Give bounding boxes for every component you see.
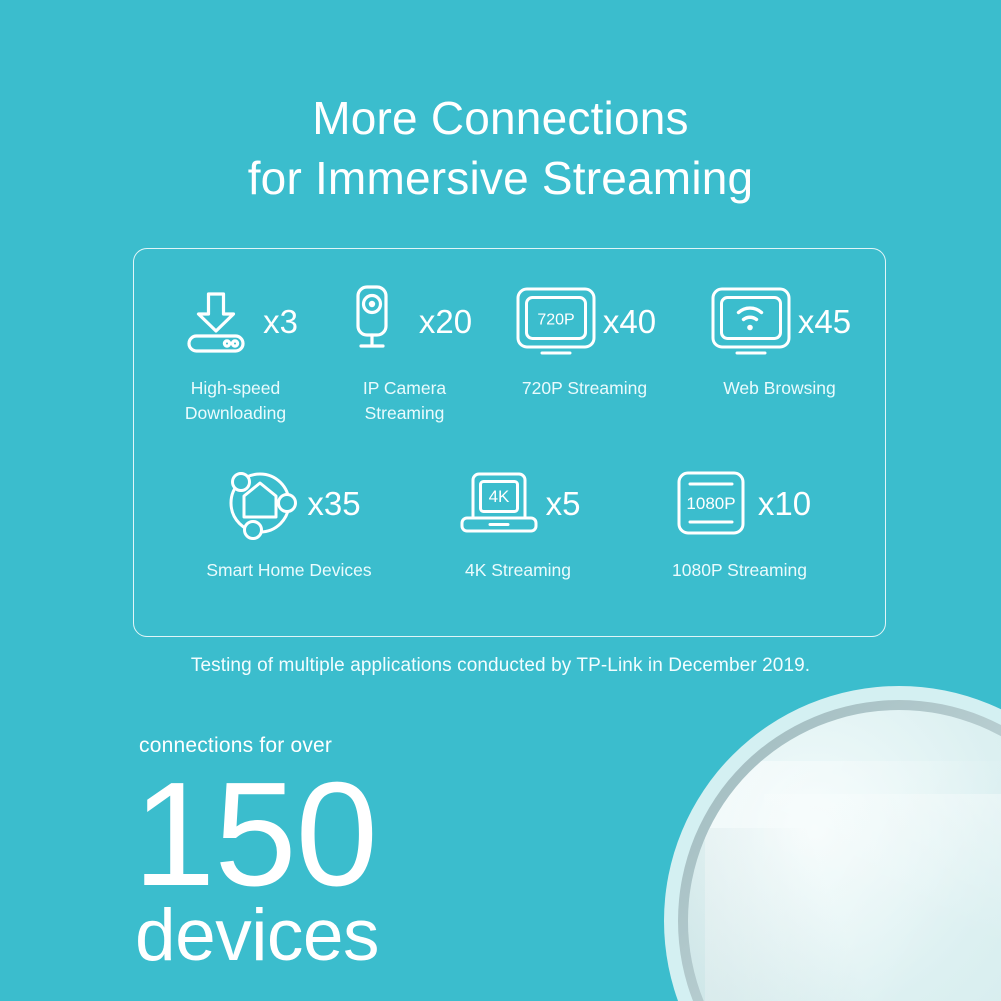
poster-canvas: More Connections for Immersive Streaming — [0, 0, 1001, 1001]
stat-block: connections for over 150 devices — [139, 733, 379, 973]
monitor-720p-icon: 720P — [513, 279, 599, 363]
headline-line-1: More Connections — [0, 88, 1001, 148]
stat-number: 150 — [133, 771, 379, 899]
feature-item-top: 720P x40 — [513, 279, 656, 363]
feature-item-smart-home-devices: x35 Smart Home Devices — [160, 461, 418, 583]
feature-label: Smart Home Devices — [206, 558, 371, 583]
feature-item-top: x20 — [329, 279, 472, 363]
feature-item-top: 1080P x10 — [668, 461, 811, 545]
router-device-image — [664, 686, 1001, 1001]
feature-label: Web Browsing — [723, 376, 836, 401]
download-to-device-icon — [173, 279, 259, 363]
ip-camera-icon — [329, 279, 415, 363]
feature-label: 720P Streaming — [522, 376, 647, 401]
smart-home-network-icon — [217, 461, 303, 545]
router-highlight-c — [764, 794, 1001, 1001]
headline-line-2: for Immersive Streaming — [0, 148, 1001, 208]
feature-label: IP Camera Streaming — [363, 376, 446, 426]
monitor-screen-text: 720P — [537, 312, 574, 329]
feature-row-1: x3 High-speed Downloading — [134, 279, 887, 426]
feature-label: 4K Streaming — [465, 558, 571, 583]
feature-item-4k-streaming: 4K x5 4K Streaming — [418, 461, 618, 583]
page-title: More Connections for Immersive Streaming — [0, 88, 1001, 208]
feature-multiplier: x5 — [546, 487, 581, 520]
feature-label: 1080P Streaming — [672, 558, 807, 583]
feature-item-1080p-streaming: 1080P x10 1080P Streaming — [618, 461, 861, 583]
feature-multiplier: x35 — [307, 487, 360, 520]
router-top-surface — [688, 710, 1001, 1001]
laptop-4k-icon: 4K — [456, 461, 542, 545]
feature-multiplier: x10 — [758, 487, 811, 520]
feature-item-top: x35 — [217, 461, 360, 545]
feature-item-top: x3 — [173, 279, 298, 363]
feature-item-720p-streaming: 720P x40 720P Streaming — [485, 279, 685, 426]
feature-item-ip-camera-streaming: x20 IP Camera Streaming — [325, 279, 485, 426]
feature-item-top: 4K x5 — [456, 461, 581, 545]
feature-multiplier: x3 — [263, 305, 298, 338]
laptop-screen-text: 4K — [488, 487, 509, 506]
feature-row-2: x35 Smart Home Devices 4K — [134, 461, 887, 583]
stat-unit: devices — [135, 899, 379, 973]
monitor-wifi-icon — [708, 279, 794, 363]
feature-multiplier: x40 — [603, 305, 656, 338]
feature-label: High-speed Downloading — [185, 376, 286, 426]
footnote-text: Testing of multiple applications conduct… — [0, 655, 1001, 677]
feature-multiplier: x20 — [419, 305, 472, 338]
feature-item-top: x45 — [708, 279, 851, 363]
tablet-1080p-icon: 1080P — [668, 461, 754, 545]
feature-multiplier: x45 — [798, 305, 851, 338]
tablet-screen-text: 1080P — [686, 494, 735, 513]
feature-item-web-browsing: x45 Web Browsing — [685, 279, 875, 426]
feature-card: x3 High-speed Downloading — [133, 248, 886, 637]
feature-item-high-speed-downloading: x3 High-speed Downloading — [147, 279, 325, 426]
